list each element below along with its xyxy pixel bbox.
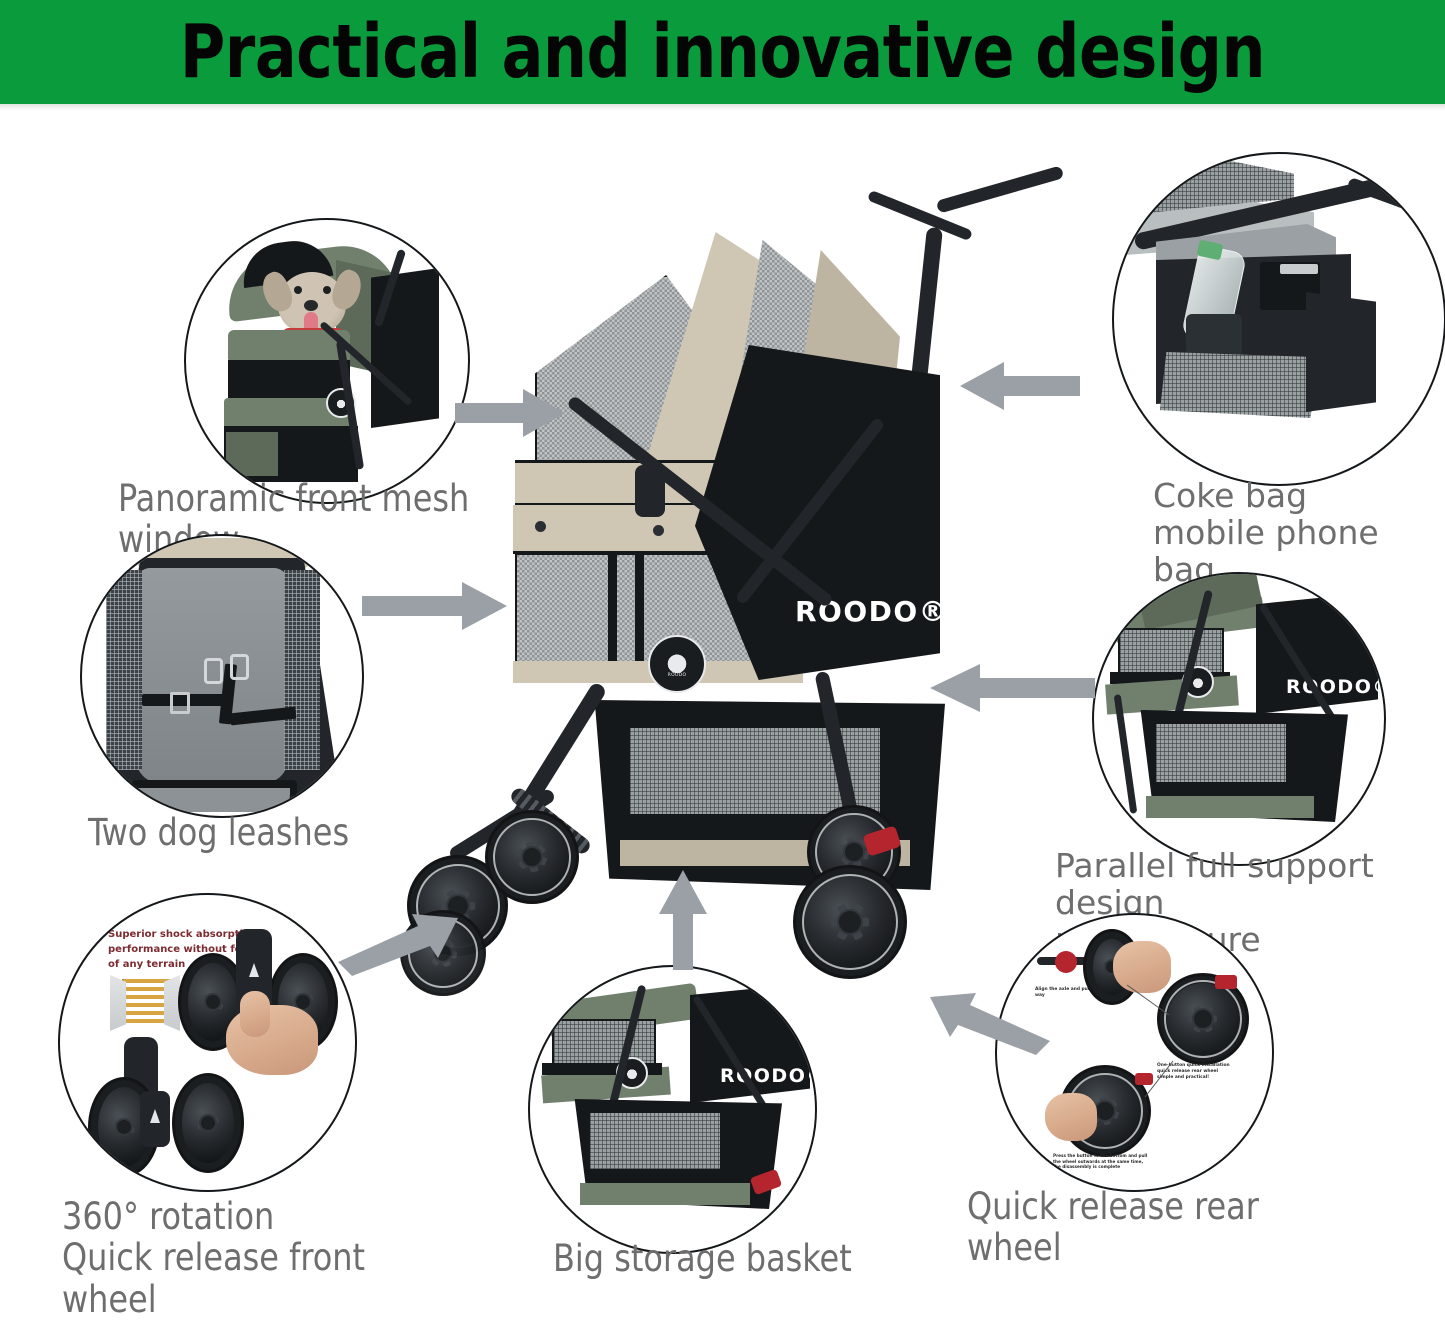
inset6-basket-bottom [1146, 796, 1314, 818]
feature-inset-coke-bag[interactable] [1112, 152, 1445, 486]
handle-bar [936, 165, 1065, 213]
caption-quick-release-rear-wheel: Quick release rear wheel [967, 1186, 1351, 1269]
inset6-roodo-wordmark: ROODO® [1286, 676, 1384, 698]
inset1-dog-eye-left [294, 286, 302, 294]
arrow-to-rear-wheel [930, 985, 1050, 1055]
arrow-to-leashes [362, 578, 507, 634]
infographic-page: Practical and innovative design R [0, 0, 1445, 1344]
front-snap-button-1 [535, 521, 546, 532]
badge-wordmark: ROODO [668, 674, 687, 679]
front-snap-button-2 [653, 525, 664, 536]
inset3-axle-lower [140, 1091, 170, 1147]
inset2-mesh-right [284, 570, 320, 770]
front-strap-1 [608, 553, 617, 661]
caption-big-storage-basket: Big storage basket [553, 1238, 870, 1279]
inset3-wheel-lower-right [172, 1073, 244, 1173]
caption-coke-bag: Coke bag mobile phone bag [1153, 478, 1443, 589]
arrow-to-front-wheel [338, 906, 458, 976]
inset3-up-arrow-icon-2 [150, 1109, 160, 1123]
banner-shadow [0, 104, 1445, 111]
frame-hinge [635, 465, 665, 517]
inset2-mesh-left [106, 570, 142, 770]
arrow-to-coke-bag [960, 358, 1080, 414]
arrow-to-storage-basket [655, 870, 711, 970]
page-title: Practical and innovative design [51, 0, 1395, 104]
inset3-up-arrow-icon [249, 963, 259, 977]
inset5-zipper [1280, 264, 1318, 274]
arrow-to-front-window [455, 385, 565, 441]
front-strap-2 [635, 553, 644, 661]
inset2-strap-buckle [170, 692, 190, 714]
feature-inset-parallel-full-support[interactable]: ROODO® [1092, 572, 1386, 866]
inset6-basket-mesh [1156, 724, 1286, 782]
header-banner: Practical and innovative design [0, 0, 1445, 104]
inset1-dog-nose [304, 300, 318, 311]
caption-quick-release-front-wheel: 360° rotation Quick release front wheel [62, 1196, 446, 1320]
inset2-front-pad [138, 788, 290, 812]
inset3-thumb-upper [240, 991, 270, 1037]
feature-inset-two-dog-leashes[interactable] [80, 534, 364, 818]
caption-two-dog-leashes: Two dog leashes [88, 812, 405, 853]
inset4-basket-mesh [590, 1113, 720, 1169]
roodo-logo-badge: ROODO [648, 635, 706, 693]
inset1-lower-left-fabric [226, 432, 278, 476]
inset5-side-panel [1306, 292, 1376, 412]
feature-inset-quick-release-front-wheel[interactable]: Superior shock absorption performance wi… [58, 893, 357, 1192]
inset3-spine-left [110, 975, 126, 1031]
inset5-lower-mesh [1160, 352, 1320, 418]
front-wheel-inner [485, 810, 579, 904]
dog-logo-icon [662, 650, 691, 673]
inset2-leash-clip-1 [204, 658, 223, 684]
inset4-basket-bottom [580, 1183, 750, 1205]
inset4-roodo-wordmark: ROODO® [720, 1065, 815, 1087]
feature-inset-big-storage-basket[interactable]: ROODO® [528, 965, 817, 1254]
arrow-to-parallel-support [930, 660, 1095, 716]
inset2-leash-clip-2 [230, 654, 249, 680]
feature-inset-panoramic-front-mesh-window[interactable] [184, 218, 470, 504]
rear-wheel-near [793, 865, 907, 979]
inset1-dog-eye-right [323, 286, 331, 294]
